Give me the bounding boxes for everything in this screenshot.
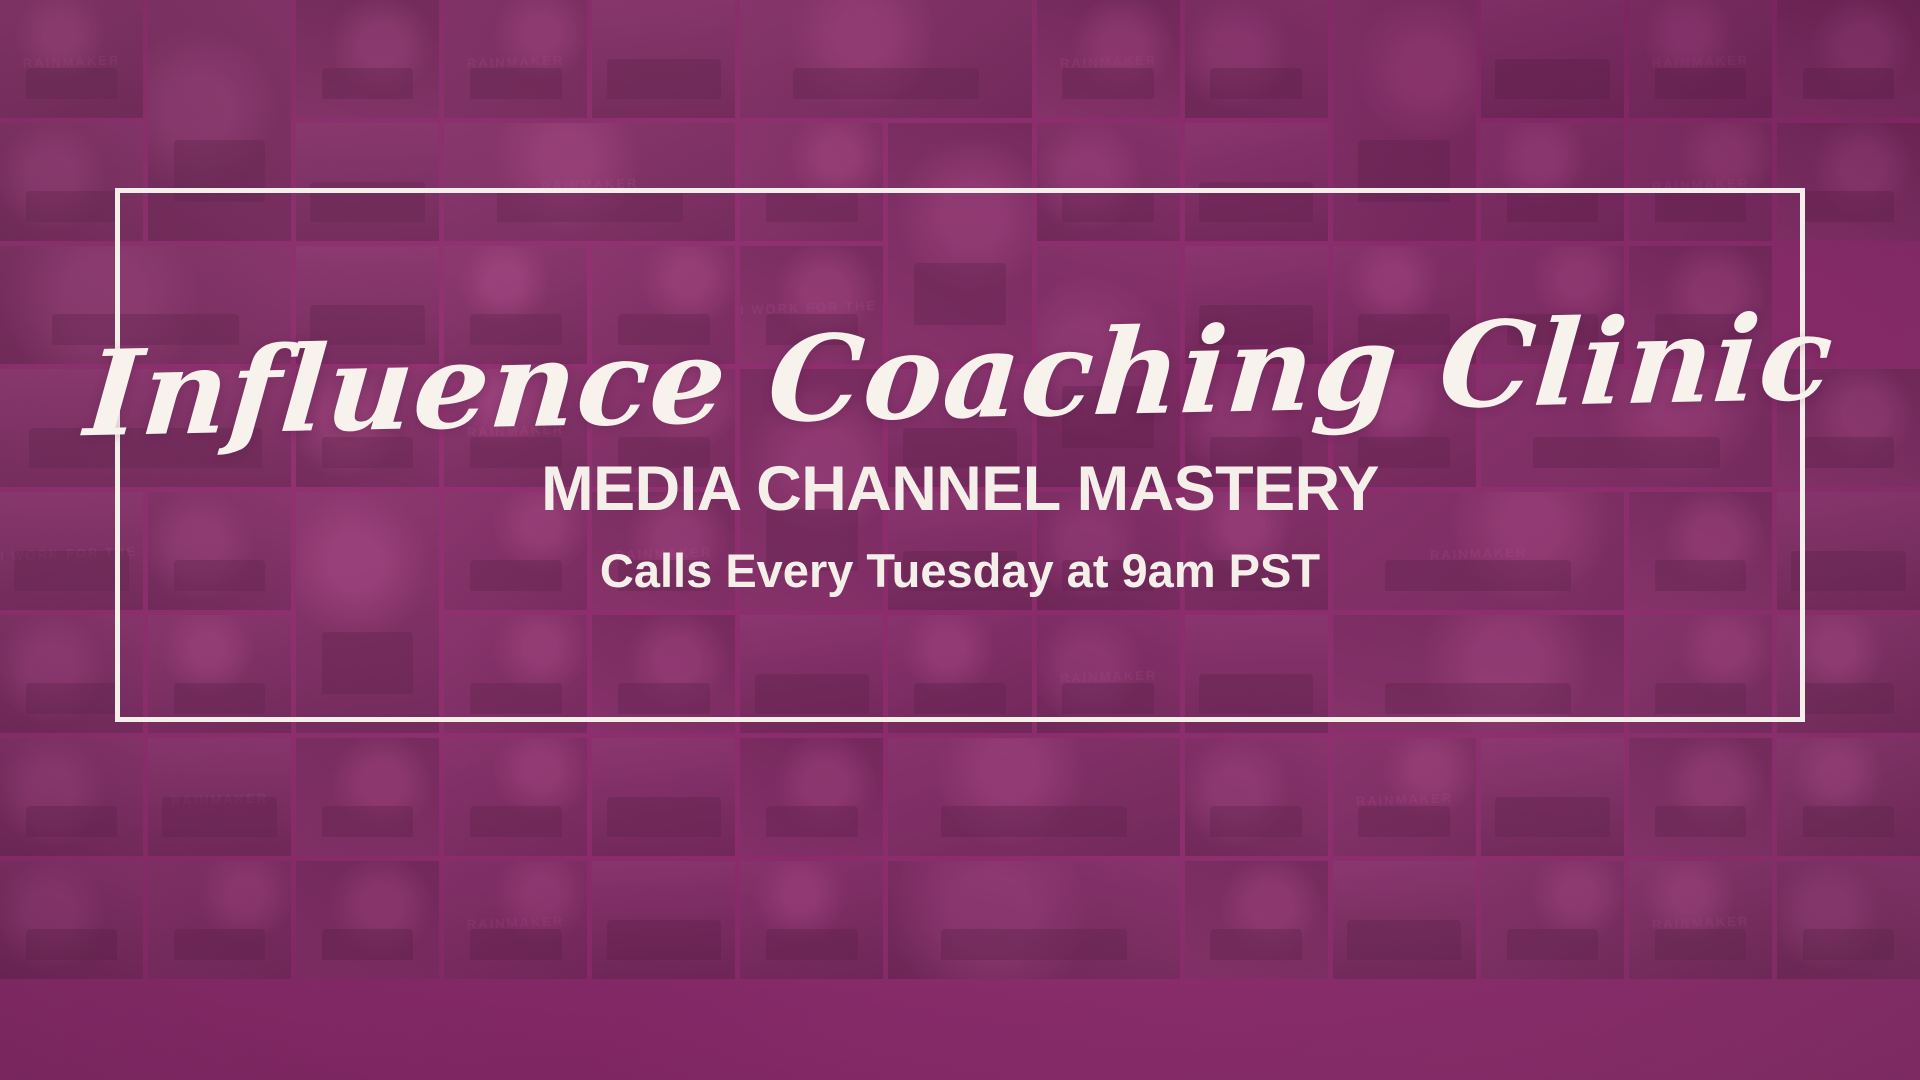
headline-block: Influence Coaching Clinic MEDIA CHANNEL …	[115, 188, 1805, 722]
subtitle: MEDIA CHANNEL MASTERY	[541, 458, 1379, 521]
schedule-text: Calls Every Tuesday at 9am PST	[600, 547, 1320, 594]
promo-banner: RAINMAKER RAINMAKER RAINMAKER RAINMAKER …	[0, 0, 1920, 1080]
script-title: Influence Coaching Clinic	[82, 298, 1839, 455]
